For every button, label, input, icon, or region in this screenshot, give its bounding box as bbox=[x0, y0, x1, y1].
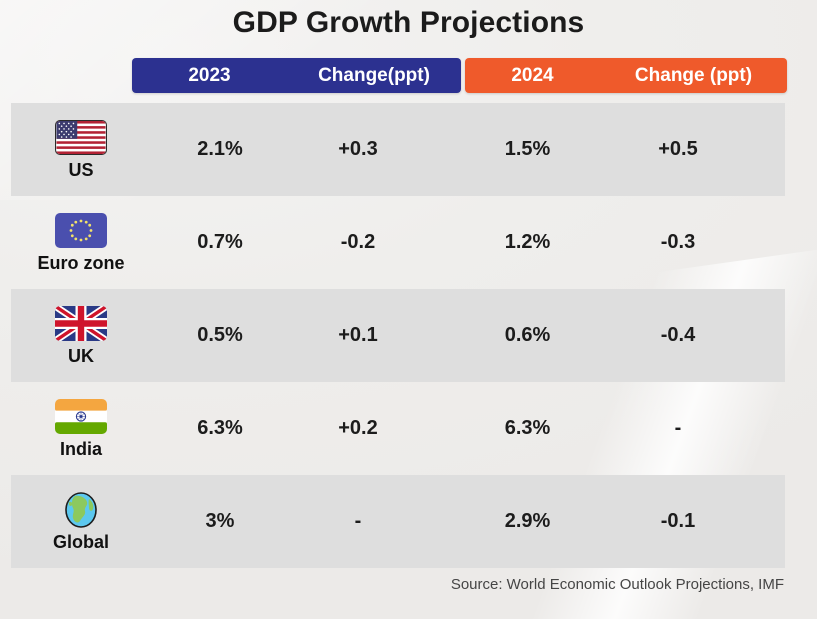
globe-icon bbox=[53, 491, 109, 529]
infographic-root: GDP Growth Projections 2023 Change(ppt) … bbox=[0, 0, 817, 619]
uk-flag-icon bbox=[53, 305, 109, 343]
table-row: US 2.1% +0.3 1.5% +0.5 bbox=[0, 103, 817, 196]
change-2024: -0.4 bbox=[605, 289, 751, 382]
table-row: UK 0.5% +0.1 0.6% -0.4 bbox=[0, 289, 817, 382]
value-2023: 0.5% bbox=[151, 289, 289, 382]
change-2023: +0.2 bbox=[289, 382, 427, 475]
change-2023: +0.1 bbox=[289, 289, 427, 382]
change-2024: - bbox=[605, 382, 751, 475]
value-2023: 3% bbox=[151, 475, 289, 568]
change-2023: - bbox=[289, 475, 427, 568]
change-2024: -0.1 bbox=[605, 475, 751, 568]
country-label: UK bbox=[68, 346, 94, 367]
value-2024: 1.2% bbox=[450, 196, 605, 289]
country-cell: UK bbox=[11, 289, 151, 382]
country-label: US bbox=[68, 160, 93, 181]
eu-flag-icon bbox=[53, 212, 109, 250]
source-caption: Source: World Economic Outlook Projectio… bbox=[451, 576, 784, 593]
table-row: Euro zone 0.7% -0.2 1.2% -0.3 bbox=[0, 196, 817, 289]
change-2024: -0.3 bbox=[605, 196, 751, 289]
country-label: Global bbox=[53, 532, 109, 553]
table-body: US 2.1% +0.3 1.5% +0.5 bbox=[0, 103, 817, 568]
us-flag-icon bbox=[53, 119, 109, 157]
header-year-2023: 2023 bbox=[132, 65, 287, 87]
page-title: GDP Growth Projections bbox=[0, 6, 817, 40]
country-label: India bbox=[60, 439, 102, 460]
value-2023: 2.1% bbox=[151, 103, 289, 196]
header-group-2023: 2023 Change(ppt) bbox=[132, 58, 461, 93]
country-cell: India bbox=[11, 382, 151, 475]
value-2023: 6.3% bbox=[151, 382, 289, 475]
table-header: 2023 Change(ppt) 2024 Change (ppt) bbox=[0, 58, 817, 93]
value-2023: 0.7% bbox=[151, 196, 289, 289]
value-2024: 0.6% bbox=[450, 289, 605, 382]
value-2024: 6.3% bbox=[450, 382, 605, 475]
change-2024: +0.5 bbox=[605, 103, 751, 196]
table-row: India 6.3% +0.2 6.3% - bbox=[0, 382, 817, 475]
value-2024: 2.9% bbox=[450, 475, 605, 568]
header-year-2024: 2024 bbox=[465, 65, 600, 87]
change-2023: -0.2 bbox=[289, 196, 427, 289]
country-cell: US bbox=[11, 103, 151, 196]
country-cell: Euro zone bbox=[11, 196, 151, 289]
india-flag-icon bbox=[53, 398, 109, 436]
value-2024: 1.5% bbox=[450, 103, 605, 196]
country-label: Euro zone bbox=[37, 253, 124, 274]
header-change-2024: Change (ppt) bbox=[600, 65, 787, 87]
change-2023: +0.3 bbox=[289, 103, 427, 196]
table-row: Global 3% - 2.9% -0.1 bbox=[0, 475, 817, 568]
header-group-2024: 2024 Change (ppt) bbox=[465, 58, 787, 93]
header-change-2023: Change(ppt) bbox=[287, 65, 461, 87]
country-cell: Global bbox=[11, 475, 151, 568]
